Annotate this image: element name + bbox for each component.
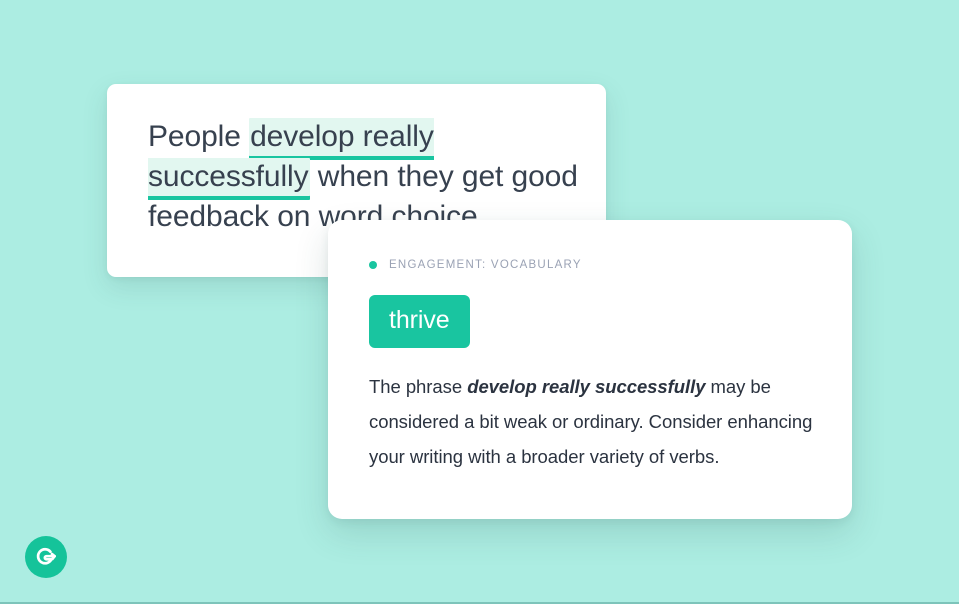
suggestion-category-label: ENGAGEMENT: VOCABULARY: [389, 259, 582, 271]
suggestion-category-row: ENGAGEMENT: VOCABULARY: [369, 258, 818, 272]
suggestion-card-body: ENGAGEMENT: VOCABULARY thrive The phrase…: [369, 258, 818, 474]
document-sentence: People develop really successfully when …: [148, 117, 580, 237]
suggestion-explanation: The phrase develop really successfully m…: [369, 369, 818, 474]
sentence-text-before: People: [148, 120, 249, 153]
explanation-emphasized-phrase: develop really successfully: [467, 376, 705, 397]
replacement-word-button[interactable]: thrive: [369, 295, 470, 348]
suggestion-card: ENGAGEMENT: VOCABULARY thrive The phrase…: [328, 220, 852, 519]
screenshot-canvas: People develop really successfully when …: [0, 0, 959, 604]
grammarly-logo-icon[interactable]: [24, 535, 68, 579]
explanation-text-before: The phrase: [369, 376, 467, 397]
dot-icon: [369, 261, 377, 269]
